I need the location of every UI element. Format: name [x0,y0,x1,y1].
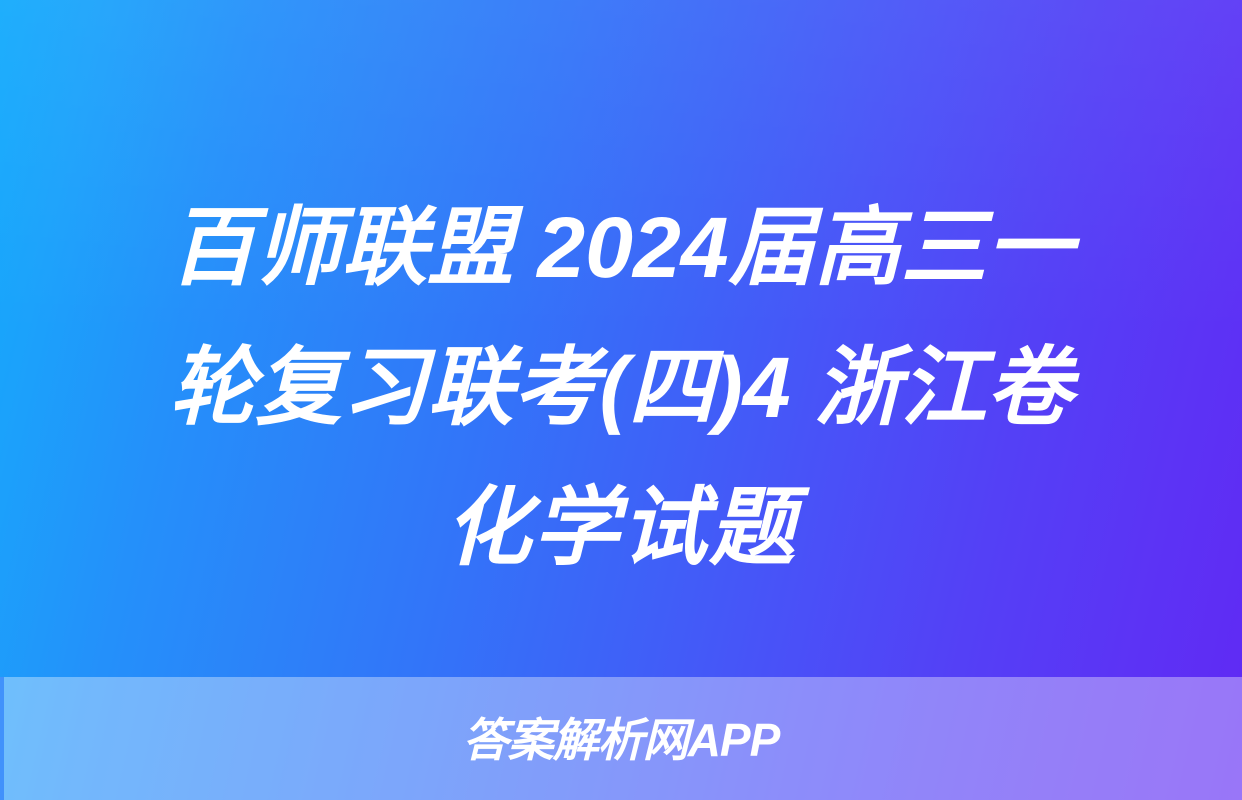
title-line-2: 轮复习联考(四)4 浙江卷 [18,318,1224,458]
poster-canvas: 百师联盟 2024届高三一 轮复习联考(四)4 浙江卷 化学试题 答案解析网AP… [0,0,1242,800]
page-title: 百师联盟 2024届高三一 轮复习联考(四)4 浙江卷 化学试题 [0,178,1242,598]
watermark-band: 答案解析网APP [0,677,1242,800]
title-line-3: 化学试题 [18,458,1224,598]
watermark-label: 答案解析网APP [463,717,780,763]
title-line-1: 百师联盟 2024届高三一 [18,178,1224,318]
